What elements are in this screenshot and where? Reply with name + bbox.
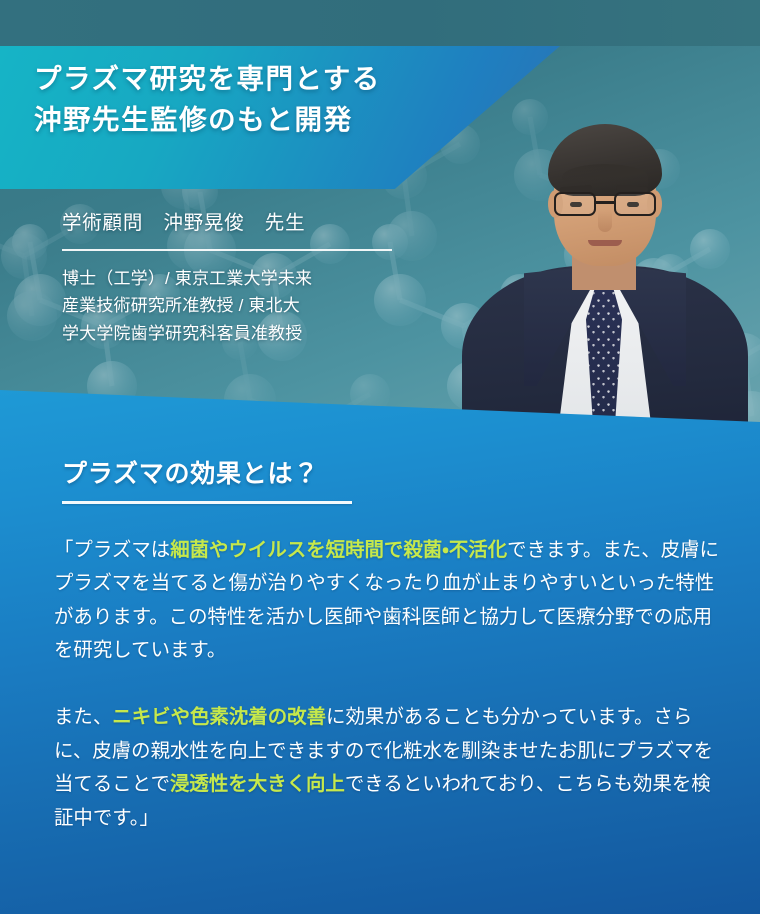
affiliation-line-2: 産業技術研究所准教授 / 東北大	[62, 292, 442, 320]
affiliation-line-3: 学大学院歯学研究科客員准教授	[62, 320, 442, 348]
section-title-underline	[62, 501, 352, 504]
p1-text-a: 「プラズマは	[54, 539, 170, 561]
advisor-affiliation: 博士（工学）/ 東京工業大学未来 産業技術研究所准教授 / 東北大 学大学院歯学…	[62, 265, 442, 348]
p2-highlight-2: 浸透性を大きく向上	[170, 773, 345, 795]
hair	[548, 124, 662, 196]
hero-top-strip	[0, 0, 760, 46]
p2-highlight-1: ニキビや色素沈着の改善	[112, 706, 326, 728]
paragraph-1: 「プラズマは細菌やウイルスを短時間で殺菌・不活化できます。また、皮膚にプラズマを…	[54, 534, 722, 668]
paragraph-2: また、ニキビや色素沈着の改善に効果があることも分かっています。さらに、皮膚の親水…	[54, 701, 722, 835]
mouth	[588, 240, 622, 246]
advisor-name: 学術顧問 沖野晃俊 先生	[62, 206, 442, 235]
nose	[598, 210, 612, 232]
page-root: プラズマ研究を専門とする 沖野先生監修のもと開発 学術顧問 沖野晃俊 先生 博士…	[0, 0, 760, 914]
affiliation-line-1: 博士（工学）/ 東京工業大学未来	[62, 265, 442, 293]
body-copy: 「プラズマは細菌やウイルスを短時間で殺菌・不活化できます。また、皮膚にプラズマを…	[54, 534, 722, 835]
credential-divider	[62, 249, 392, 251]
headline: プラズマ研究を専門とする 沖野先生監修のもと開発	[34, 58, 554, 141]
p2-text-a: また、	[54, 706, 112, 728]
glasses-bridge	[596, 201, 614, 204]
p1-highlight-1: 細菌やウイルスを短時間で殺菌・不活化	[170, 539, 507, 561]
glasses-lens-right	[614, 192, 656, 216]
headline-line-1: プラズマ研究を専門とする	[34, 63, 381, 94]
credential-block: 学術顧問 沖野晃俊 先生 博士（工学）/ 東京工業大学未来 産業技術研究所准教授…	[62, 206, 442, 347]
glasses-lens-left	[554, 192, 596, 216]
professor-photo	[450, 98, 760, 430]
section-title: プラズマの効果とは？	[62, 454, 319, 490]
effects-panel-content: プラズマの効果とは？ 「プラズマは細菌やウイルスを短時間で殺菌・不活化できます。…	[0, 382, 760, 914]
headline-line-2: 沖野先生監修のもと開発	[34, 99, 554, 140]
